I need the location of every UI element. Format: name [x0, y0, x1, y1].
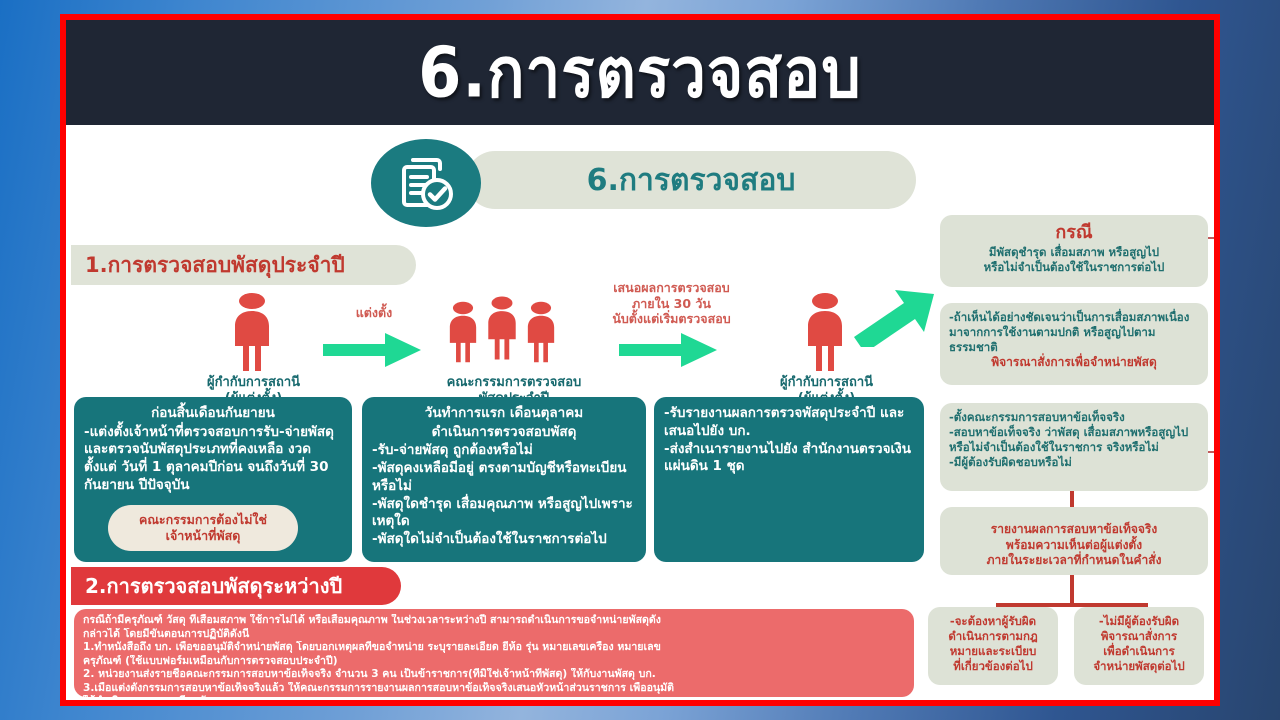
- section1-card-2-body: -รับ-จ่ายพัสดุ ถูกต้องหรือไม่ -พัสดุคงเห…: [372, 442, 636, 549]
- section2-line-3: 1.ทำหนังสือถึง บก. เพื่อขออนุมัติจำหน่าย…: [83, 641, 905, 655]
- person-icon-committee-3: [517, 291, 565, 373]
- section1-card-2-heading-line1: วันทำการแรก เดือนตุลาคม: [372, 405, 636, 423]
- section2-body: กรณีถ้ามีครุภัณฑ์ วัสดุ ที่เสื่อมสภาพ ใช…: [74, 609, 914, 697]
- flow-arrow2-icon: [614, 330, 724, 370]
- section1-label-text: 1.การตรวจสอบพัสดุประจำปี: [85, 249, 345, 282]
- person-icon-station-chief-1: [221, 291, 283, 373]
- connector-vertical-2: [1070, 575, 1074, 605]
- flow-arrow2-label-line3: นับตั้งแต่เริ่มตรวจสอบ: [574, 311, 769, 327]
- section1-card-1-heading: ก่อนสิ้นเดือนกันยายน: [84, 405, 342, 423]
- slide-title-bar: 6.การตรวจสอบ: [66, 20, 1214, 128]
- right-card-2-emphasis: พิจารณาสั่งการเพื่อจำหน่ายพัสดุ: [949, 355, 1199, 371]
- right-card-6-body: -ไม่มีผู้ต้องรับผิด พิจารณาสั่งการ เพื่อ…: [1083, 614, 1195, 674]
- section1-card-2: วันทำการแรก เดือนตุลาคม ดำเนินการตรวจสอบ…: [362, 397, 646, 562]
- section2-label-text: 2.การตรวจสอบพัสดุระหว่างปี: [85, 570, 342, 602]
- connector-vertical-1: [1070, 491, 1074, 507]
- right-card-6: -ไม่มีผู้ต้องรับผิด พิจารณาสั่งการ เพื่อ…: [1074, 607, 1204, 685]
- section1-card-2-heading-line2: ดำเนินการตรวจสอบพัสดุ: [372, 424, 636, 442]
- section2-line-4: ครุภัณฑ์ (ใช้แบบฟอร์มเหมือนกับการตรวจสอบ…: [83, 655, 905, 669]
- section2-line-1: กรณีถ้ามีครุภัณฑ์ วัสดุ ที่เสื่อมสภาพ ใช…: [83, 614, 905, 628]
- flow-arrow1-label: แต่งตั้ง: [324, 305, 424, 321]
- flow-arrow1-icon: [321, 330, 425, 370]
- right-card-5-body: -จะต้องหาผู้รับผิด ดำเนินการตามกฎ หมายแล…: [937, 614, 1049, 674]
- header-badge: 6.การตรวจสอบ: [466, 151, 916, 209]
- flow-arrow2-label-line1: เสนอผลการตรวจสอบ: [574, 280, 769, 296]
- slide-root: 6.การตรวจสอบ 6.การตรวจสอบ 1.การตรวจสอบพ: [0, 0, 1280, 720]
- section1-label: 1.การตรวจสอบพัสดุประจำปี: [71, 245, 416, 285]
- right-card-5: -จะต้องหาผู้รับผิด ดำเนินการตามกฎ หมายแล…: [928, 607, 1058, 685]
- header-badge-label: 6.การตรวจสอบ: [587, 157, 796, 204]
- flow-node3-label-line1: ผู้กำกับการสถานี: [734, 375, 919, 391]
- flow-arrow2-label: เสนอผลการตรวจสอบ ภายใน 30 วัน นับตั้งแต่…: [574, 280, 769, 327]
- section1-card-1: ก่อนสิ้นเดือนกันยายน -แต่งตั้งเจ้าหน้าที…: [74, 397, 352, 562]
- right-card-1-body: มีพัสดุชำรุด เสื่อมสภาพ หรือสูญไป หรือไม…: [949, 245, 1199, 275]
- document-check-icon: [371, 139, 481, 227]
- section1-card-1-body: -แต่งตั้งเจ้าหน้าที่ตรวจสอบการรับ-จ่ายพั…: [84, 424, 342, 495]
- section1-card-3-body: -รับรายงานผลการตรวจพัสดุประจำปี และเสนอไ…: [664, 405, 914, 476]
- section1-card-1-pill: คณะกรรมการต้องไม่ใช่ เจ้าหน้าที่พัสดุ: [108, 505, 298, 551]
- person-icon-station-chief-2: [794, 291, 856, 373]
- right-card-4-body: รายงานผลการสอบหาข้อเท็จจริง พร้อมความเห็…: [949, 514, 1199, 569]
- section2-label: 2.การตรวจสอบพัสดุระหว่างปี: [71, 567, 401, 605]
- right-card-3: -ตั้งคณะกรรมการสอบหาข้อเท็จจริง -สอบหาข้…: [940, 403, 1208, 491]
- section2-line-7: ให้ดำเนินการตามระเบียบพัสดุ: [83, 695, 905, 700]
- right-card-3-body: -ตั้งคณะกรรมการสอบหาข้อเท็จจริง -สอบหาข้…: [949, 410, 1199, 470]
- right-bracket: [1208, 237, 1214, 453]
- section1-card-1-pill-line1: คณะกรรมการต้องไม่ใช่: [139, 512, 267, 527]
- section2-line-5: 2. หน่วยงานส่งรายชื่อคณะกรรมการสอบหาข้อเ…: [83, 668, 905, 682]
- right-card-1-heading: กรณี: [949, 222, 1199, 244]
- section1-card-1-pill-text: คณะกรรมการต้องไม่ใช่ เจ้าหน้าที่พัสดุ: [139, 512, 267, 545]
- flow-arrow3-icon-diagonal: [848, 275, 940, 347]
- section1-card-3: -รับรายงานผลการตรวจพัสดุประจำปี และเสนอไ…: [654, 397, 924, 562]
- flow-arrow2-label-line2: ภายใน 30 วัน: [574, 296, 769, 312]
- section2-line-2: กล่าวได้ โดยมีขั้นตอนการปฏิบัติดังนี้: [83, 628, 905, 642]
- infographic-canvas: 6.การตรวจสอบ 1.การตรวจสอบพัสดุประจำปี ผู…: [66, 125, 1214, 700]
- flow-node2-label-line1: คณะกรรมการตรวจสอบ: [404, 375, 624, 391]
- section1-card-1-pill-line2: เจ้าหน้าที่พัสดุ: [166, 528, 241, 543]
- section2-line-6: 3.เมื่อแต่งตั้งกรรมการสอบหาข้อเท็จจริงแล…: [83, 682, 905, 696]
- right-card-2: -ถ้าเห็นได้อย่างชัดเจนว่าเป็นการเสื่อมสภ…: [940, 303, 1208, 385]
- right-card-4: รายงานผลการสอบหาข้อเท็จจริง พร้อมความเห็…: [940, 507, 1208, 575]
- page-title: 6.การตรวจสอบ: [418, 38, 862, 107]
- flow-node1-label-line1: ผู้กำกับการสถานี: [161, 375, 346, 391]
- right-card-1: กรณี มีพัสดุชำรุด เสื่อมสภาพ หรือสูญไป ห…: [940, 215, 1208, 287]
- right-card-2-body: -ถ้าเห็นได้อย่างชัดเจนว่าเป็นการเสื่อมสภ…: [949, 310, 1199, 355]
